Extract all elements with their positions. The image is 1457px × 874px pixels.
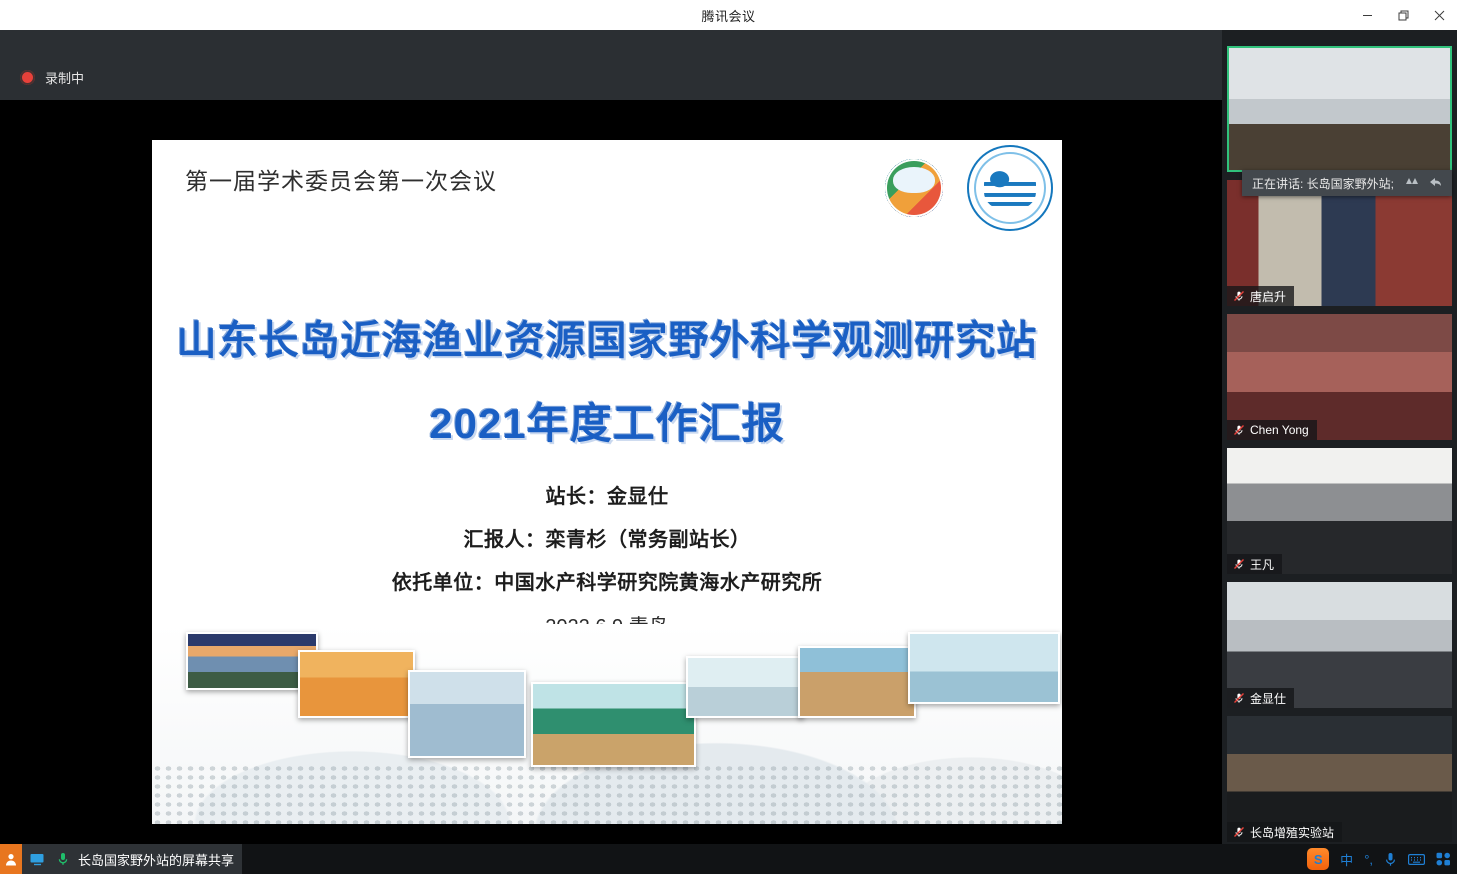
slide-photo [531,682,696,767]
slide-meta-block: 站长：金显仕 汇报人：栾青杉（常务副站长） 依托单位：中国水产科学研究院黄海水产… [152,480,1062,609]
participant-name: 唐启升 [1250,288,1286,305]
slide-meta-line: 依托单位：中国水产科学研究院黄海水产研究所 [152,566,1062,595]
recording-label: 录制中 [45,68,84,87]
participant-nametag: 唐启升 [1227,286,1294,306]
slide-photo [686,656,804,718]
participant-tile[interactable]: 唐启升 [1227,180,1452,306]
participant-tile[interactable]: 长岛增殖实验站 [1227,716,1452,842]
mic-muted-icon [1233,424,1245,436]
participant-tile[interactable]: Chen Yong [1227,314,1452,440]
participant-name: 王凡 [1250,556,1274,573]
ime-mode-icon[interactable]: 中 [1340,850,1353,869]
taskbar: 长岛国家野外站的屏幕共享 S 中 °, [0,844,1457,874]
participant-nametag: 长岛增殖实验站 [1227,822,1342,842]
participant-video-rail[interactable]: 唐启升 Chen Yong [1222,30,1457,844]
slide-photo [298,650,415,718]
sogou-ime-logo-icon[interactable]: S [1307,848,1329,870]
window-controls [1349,0,1457,30]
ime-keyboard-icon[interactable] [1408,853,1425,866]
speaking-toast-text: 正在讲话: 长岛国家野外站; [1252,175,1394,192]
maximize-restore-button[interactable] [1385,0,1421,30]
taskbar-share-label: 长岛国家野外站的屏幕共享 [78,850,234,869]
yellow-sea-institute-logo-icon [967,145,1053,231]
close-button[interactable] [1421,0,1457,30]
shared-screen-stage: 第一届学术委员会第一次会议 山东长岛近海渔业资源国家野外科学观测研究站 2021… [0,100,1222,844]
participant-tile[interactable]: 金显仕 [1227,582,1452,708]
minimize-button[interactable] [1349,0,1385,30]
mic-muted-icon [1233,692,1245,704]
volume-bars-icon [1404,175,1422,192]
slide-photo [798,646,916,718]
slide-title-main: 山东长岛近海渔业资源国家野外科学观测研究站 [152,308,1062,366]
mic-muted-icon [1233,558,1245,570]
participant-nametag: 王凡 [1227,554,1282,574]
participant-name: 金显仕 [1250,690,1286,707]
recording-indicator: 录制中 [20,68,84,87]
participant-tile[interactable]: 王凡 [1227,448,1452,574]
window-title-bar: 腾讯会议 [0,0,1457,30]
ime-punctuation-icon[interactable]: °, [1364,852,1373,867]
slide-logos [871,145,1053,231]
microphone-icon [52,844,74,874]
participant-nametag: Chen Yong [1227,420,1317,440]
meeting-window: 录制中 第一届学术委员会第一次会议 山东长岛近海渔业资源国家野外科学观测研究站 … [0,30,1457,844]
window-title: 腾讯会议 [701,6,755,25]
participant-tile[interactable] [1227,46,1452,172]
slide-header: 第一届学术委员会第一次会议 [185,162,497,196]
system-tray: S 中 °, [1307,844,1451,874]
mic-muted-icon [1233,826,1245,838]
slide-photo [908,632,1060,704]
recording-dot-icon [20,70,35,85]
taskbar-share-item[interactable]: 长岛国家野外站的屏幕共享 [0,844,242,874]
slide-title-sub: 2021年度工作汇报 [152,390,1062,451]
slide-photo-strip [186,632,1026,782]
slide-meta-line: 站长：金显仕 [152,480,1062,509]
reply-arrow-icon [1428,175,1444,192]
person-icon [0,844,22,874]
ime-apps-grid-icon[interactable] [1436,852,1451,866]
participant-name: Chen Yong [1250,423,1309,437]
ime-voice-input-icon[interactable] [1384,852,1397,867]
mic-muted-icon [1233,290,1245,302]
screen-share-icon [26,844,48,874]
slide-meta-line: 汇报人：栾青杉（常务副站长） [152,523,1062,552]
speaking-toast: 正在讲话: 长岛国家野外站; [1242,170,1452,196]
participant-nametag: 金显仕 [1227,688,1294,708]
participant-name: 长岛增殖实验站 [1250,824,1334,841]
speaking-toast-icons [1404,175,1444,192]
slide-photo [408,670,526,758]
station-logo-icon [871,145,957,231]
presentation-slide: 第一届学术委员会第一次会议 山东长岛近海渔业资源国家野外科学观测研究站 2021… [152,140,1062,824]
